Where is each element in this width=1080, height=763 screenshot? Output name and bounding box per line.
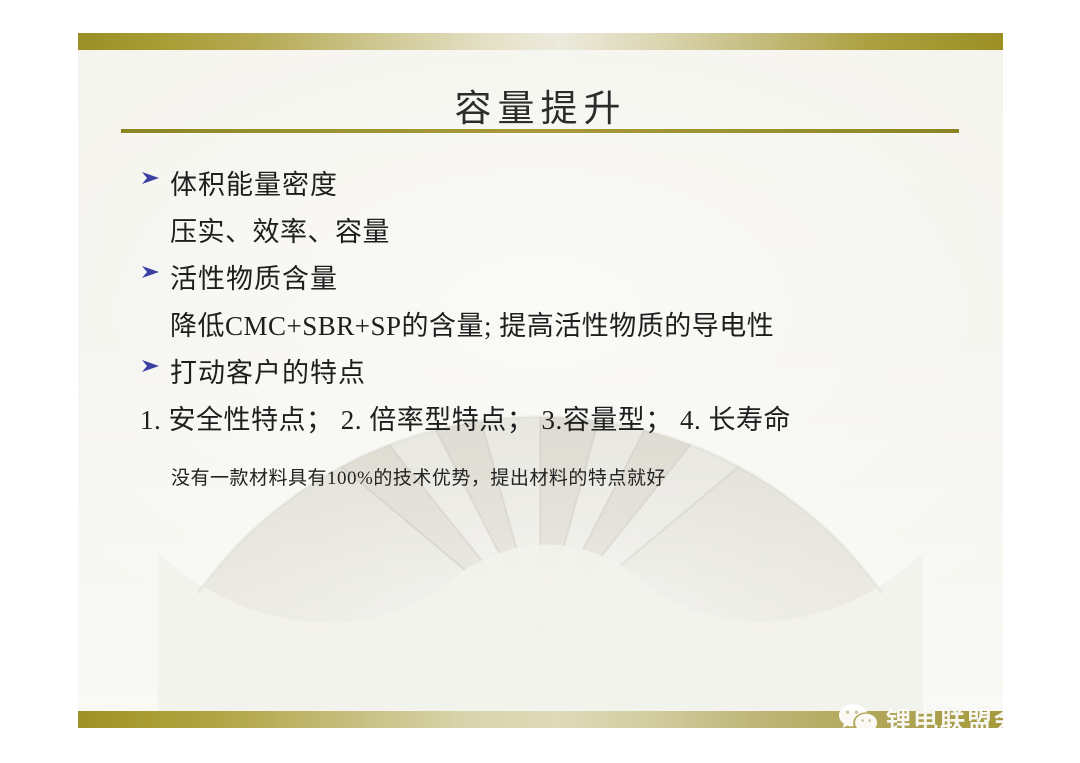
arrow-bullet-icon <box>140 257 170 280</box>
arrow-bullet-icon <box>140 163 170 186</box>
presentation-slide: 容量提升 体积能量密度 压实、效率、容量 活性物 <box>78 33 1003 728</box>
bullet-item-3: 打动客户的特点 <box>140 351 990 395</box>
bullet-heading: 活性物质含量 <box>170 257 338 301</box>
numbered-feature-list: 1. 安全性特点； 2. 倍率型特点； 3.容量型； 4. 长寿命 <box>140 397 990 443</box>
slide-bottom-accent-bar <box>78 711 1003 728</box>
title-underline-rule <box>121 129 959 133</box>
slide-footnote: 没有一款材料具有100%的技术优势，提出材料的特点就好 <box>171 465 666 493</box>
screenshot-canvas: 容量提升 体积能量密度 压实、效率、容量 活性物 <box>0 0 1080 763</box>
bullet-heading: 打动客户的特点 <box>170 351 366 395</box>
slide-body: 体积能量密度 压实、效率、容量 活性物质含量 降低CMC+SBR+SP的含量; … <box>140 163 990 443</box>
slide-top-accent-bar <box>78 33 1003 50</box>
bullet-subline-2: 降低CMC+SBR+SP的含量; 提高活性物质的导电性 <box>170 303 990 349</box>
bullet-item-1: 体积能量密度 <box>140 163 990 207</box>
page-title: 容量提升 <box>78 78 1003 132</box>
bullet-heading: 体积能量密度 <box>170 163 338 207</box>
bullet-subline-1: 压实、效率、容量 <box>170 209 990 255</box>
bullet-item-2: 活性物质含量 <box>140 257 990 301</box>
arrow-bullet-icon <box>140 351 170 374</box>
